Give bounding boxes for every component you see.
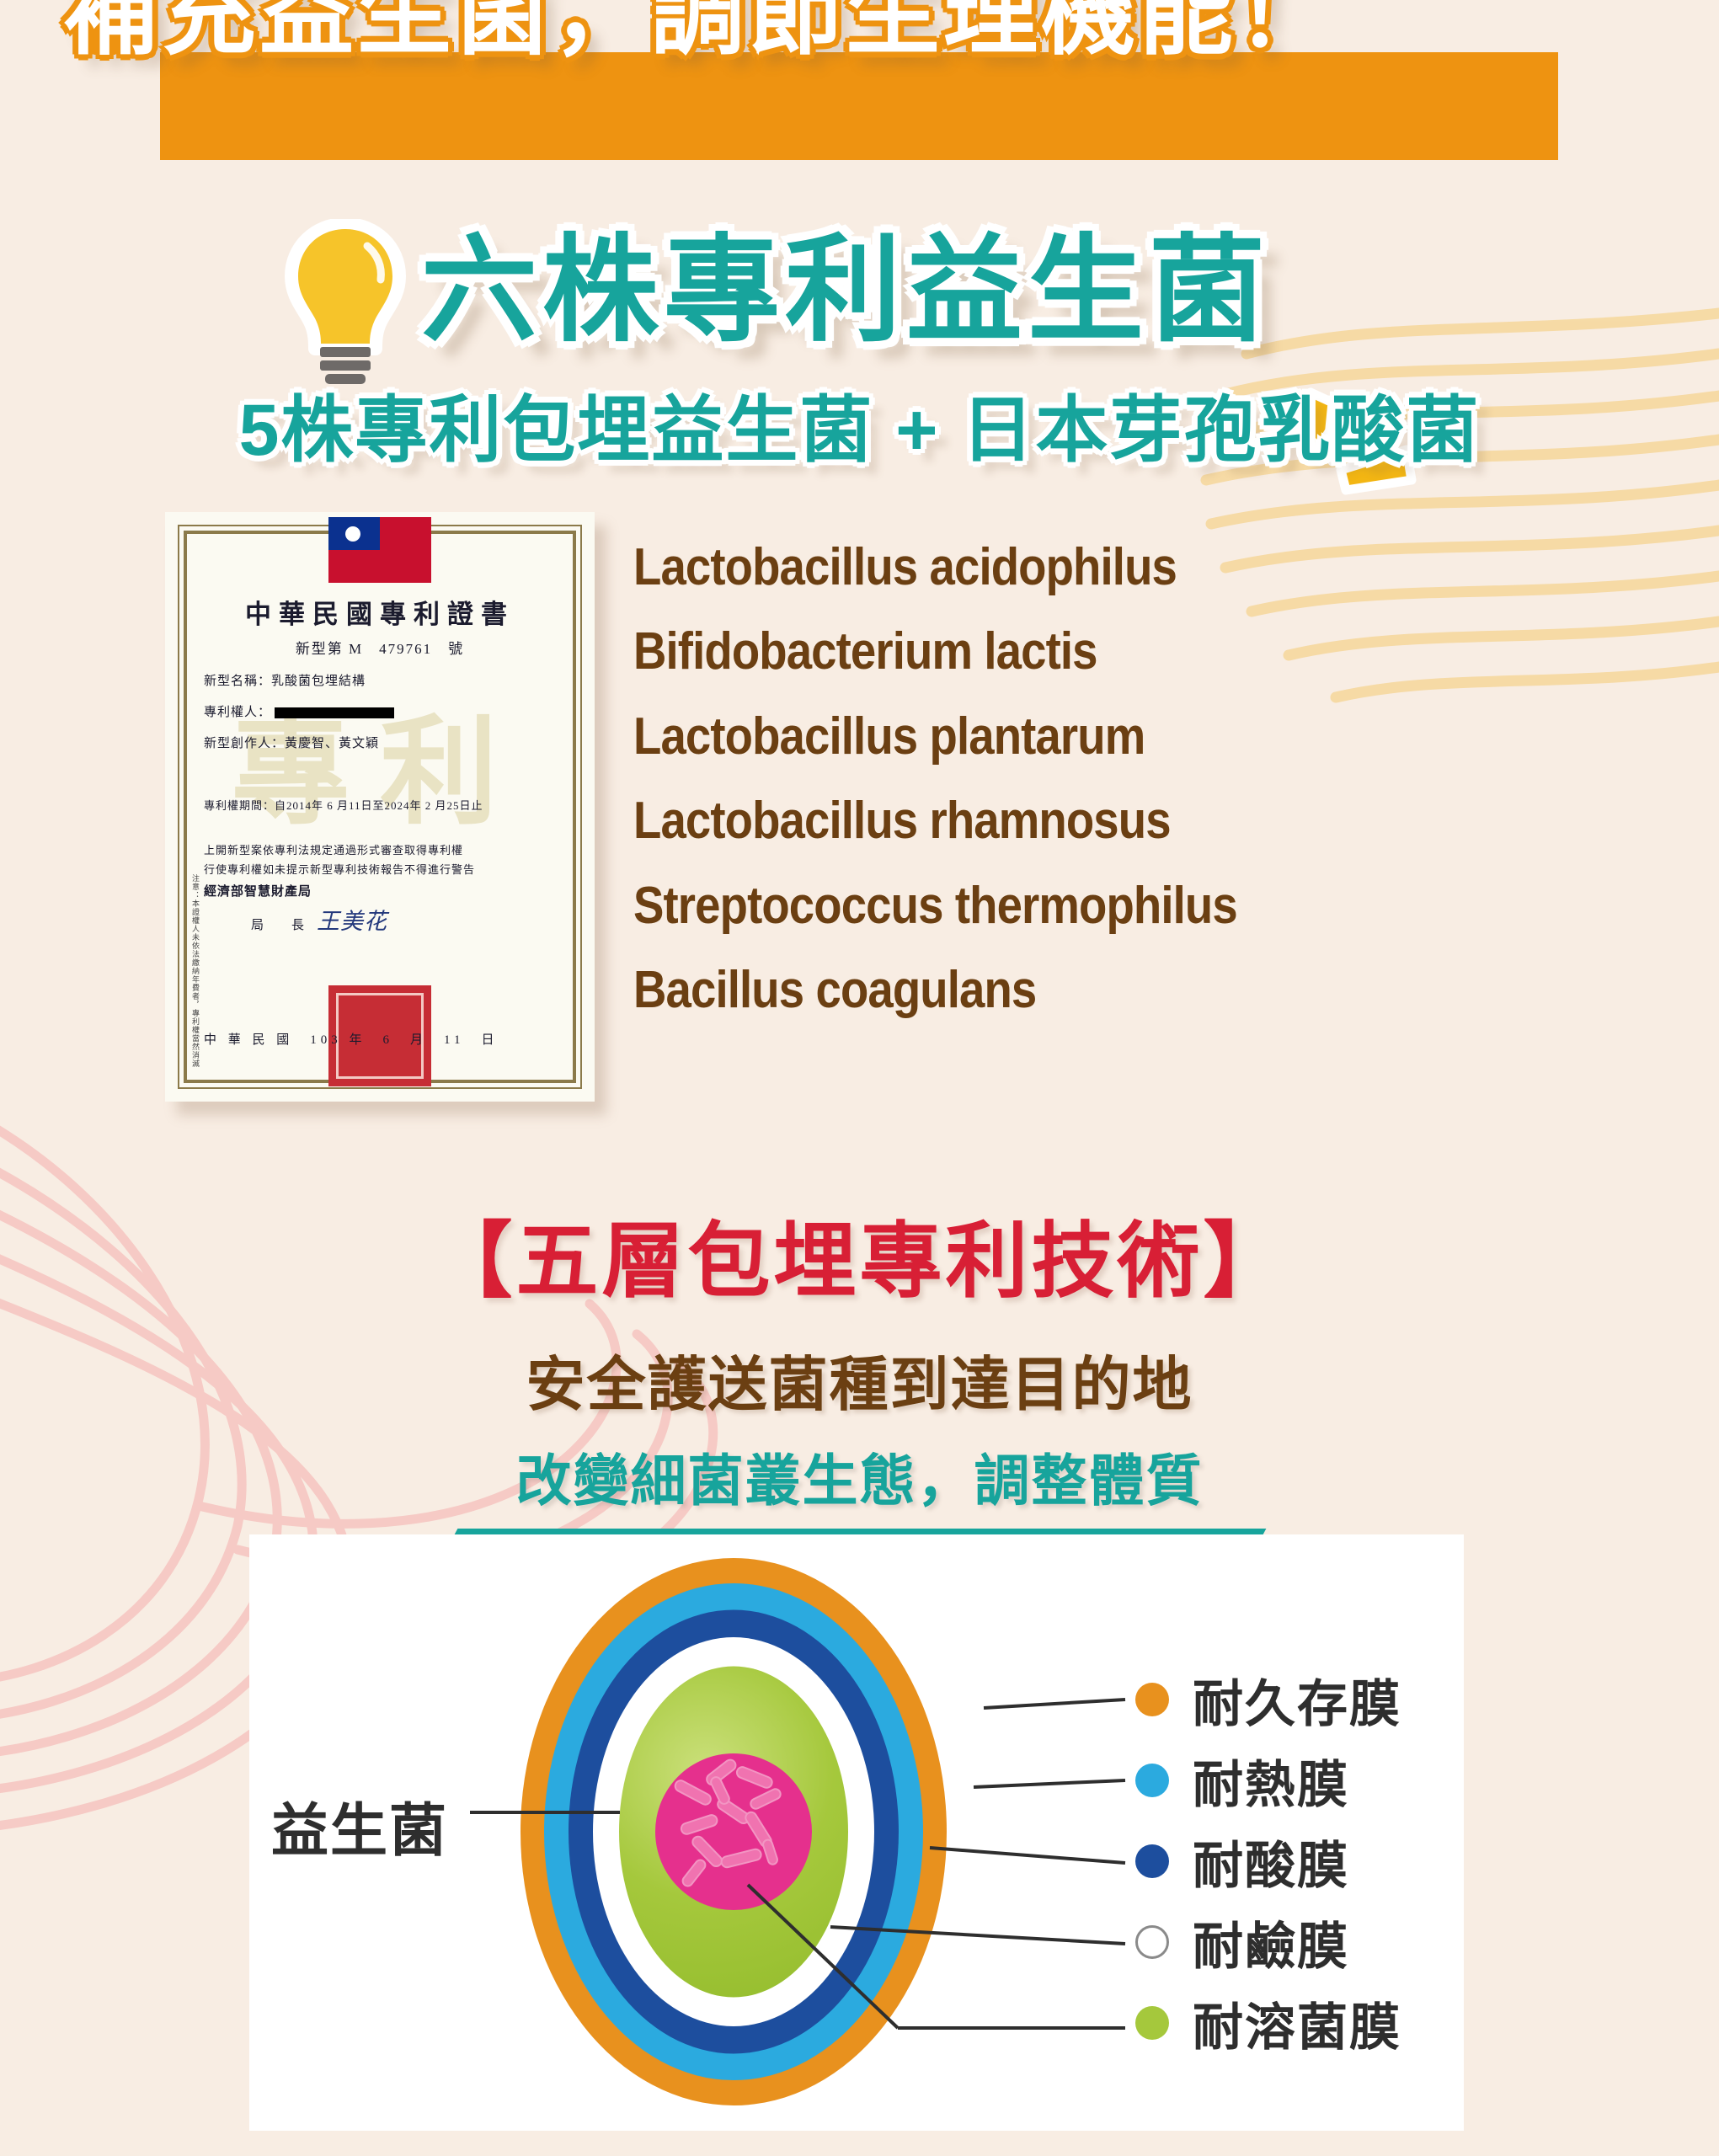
legend-color-dot — [1135, 1925, 1169, 1959]
five-layer-section: 【五層包埋專利技術】 安全護送菌種到達目的地 改變細菌叢生態，調整體質 — [0, 1194, 1719, 1536]
five-layer-subtitle-2: 改變細菌叢生態，調整體質 — [516, 1436, 1204, 1517]
legend-label: 耐久存膜 — [1193, 1663, 1401, 1737]
legend-color-dot — [1135, 1844, 1169, 1878]
five-layer-subtitle-1: 安全護送菌種到達目的地 — [0, 1337, 1719, 1422]
list-item: Lactobacillus acidophilus — [633, 526, 1237, 610]
five-layer-title: 【五層包埋專利技術】 — [0, 1194, 1719, 1314]
legend-item: 耐酸膜 — [1135, 1821, 1401, 1902]
legend-color-dot — [1135, 2006, 1169, 2040]
legend-color-dot — [1135, 1764, 1169, 1797]
legend-item: 耐溶菌膜 — [1135, 1983, 1401, 2063]
certificate-holder-label: 專利權人： — [204, 706, 271, 719]
list-item: Streptococcus thermophilus — [633, 864, 1237, 948]
roc-flag-icon — [328, 517, 431, 583]
list-item: Lactobacillus rhamnosus — [633, 779, 1237, 863]
legend-item: 耐久存膜 — [1135, 1659, 1401, 1740]
lightbulb-icon — [283, 219, 409, 396]
legend-label: 耐酸膜 — [1193, 1825, 1349, 1898]
certificate-creator-row: 新型創作人：黃慶智、黃文穎 — [204, 734, 556, 751]
certificate-office: 經濟部智慧財產局 — [204, 882, 556, 899]
header-banner-text: 補充益生菌，調節生理機能！ — [0, 0, 1398, 68]
probiotic-strain-list: Lactobacillus acidophilus Bifidobacteriu… — [633, 526, 1320, 1033]
certificate-director-label: 局 長 — [251, 919, 305, 932]
certificate-date: 中 華 民 國 103 年 6 月 11 日 — [204, 1030, 556, 1048]
certificate-director-row: 局 長王美花 — [204, 903, 556, 936]
certificate-signature: 王美花 — [317, 909, 387, 934]
legend-item: 耐鹼膜 — [1135, 1902, 1401, 1983]
layer-legend: 耐久存膜 耐熱膜 耐酸膜 耐鹼膜 耐溶菌膜 — [1135, 1659, 1401, 2063]
legend-color-dot — [1135, 1683, 1169, 1716]
legend-label: 耐熱膜 — [1193, 1744, 1349, 1817]
patent-certificate-image: 專利 中華民國專利證書 新型第 M 479761 號 新型名稱：乳酸菌包埋結構 … — [165, 512, 595, 1102]
certificate-side-note: 注意：本證權人未依法繳納年費者，專利權當然消滅 — [190, 874, 201, 1068]
header-banner-bar — [160, 52, 1558, 160]
legend-label: 耐鹼膜 — [1193, 1906, 1349, 1979]
list-item: Lactobacillus plantarum — [633, 695, 1237, 779]
certificate-name-row: 新型名稱：乳酸菌包埋結構 — [204, 671, 556, 689]
certificate-holder-row: 專利權人： — [204, 702, 556, 720]
certificate-period-row: 專利權期間：自2014年 6 月11日至2024年 2 月25日止 — [204, 797, 556, 813]
layer-diagram-panel: 益生菌 — [249, 1534, 1464, 2131]
list-item: Bifidobacterium lactis — [633, 610, 1237, 694]
redaction-bar — [275, 707, 394, 718]
legend-label: 耐溶菌膜 — [1193, 1987, 1401, 2060]
certificate-note-2: 行使專利權如未提示新型專利技術報告不得進行警告 — [204, 861, 556, 877]
legend-item: 耐熱膜 — [1135, 1740, 1401, 1821]
hero-title: 六株專利益生菌 — [421, 195, 1270, 364]
hero-section: 六株專利益生菌 5株專利包埋益生菌 + 日本芽孢乳酸菌 — [0, 195, 1719, 473]
certificate-title: 中華民國專利證書 — [204, 593, 556, 631]
list-item: Bacillus coagulans — [633, 948, 1237, 1033]
certificate-number: 新型第 M 479761 號 — [204, 637, 556, 658]
hero-subtitle: 5株專利包埋益生菌 + 日本芽孢乳酸菌 — [0, 371, 1719, 476]
certificate-note-1: 上開新型案依專利法規定通過形式審查取得專利權 — [204, 841, 556, 857]
